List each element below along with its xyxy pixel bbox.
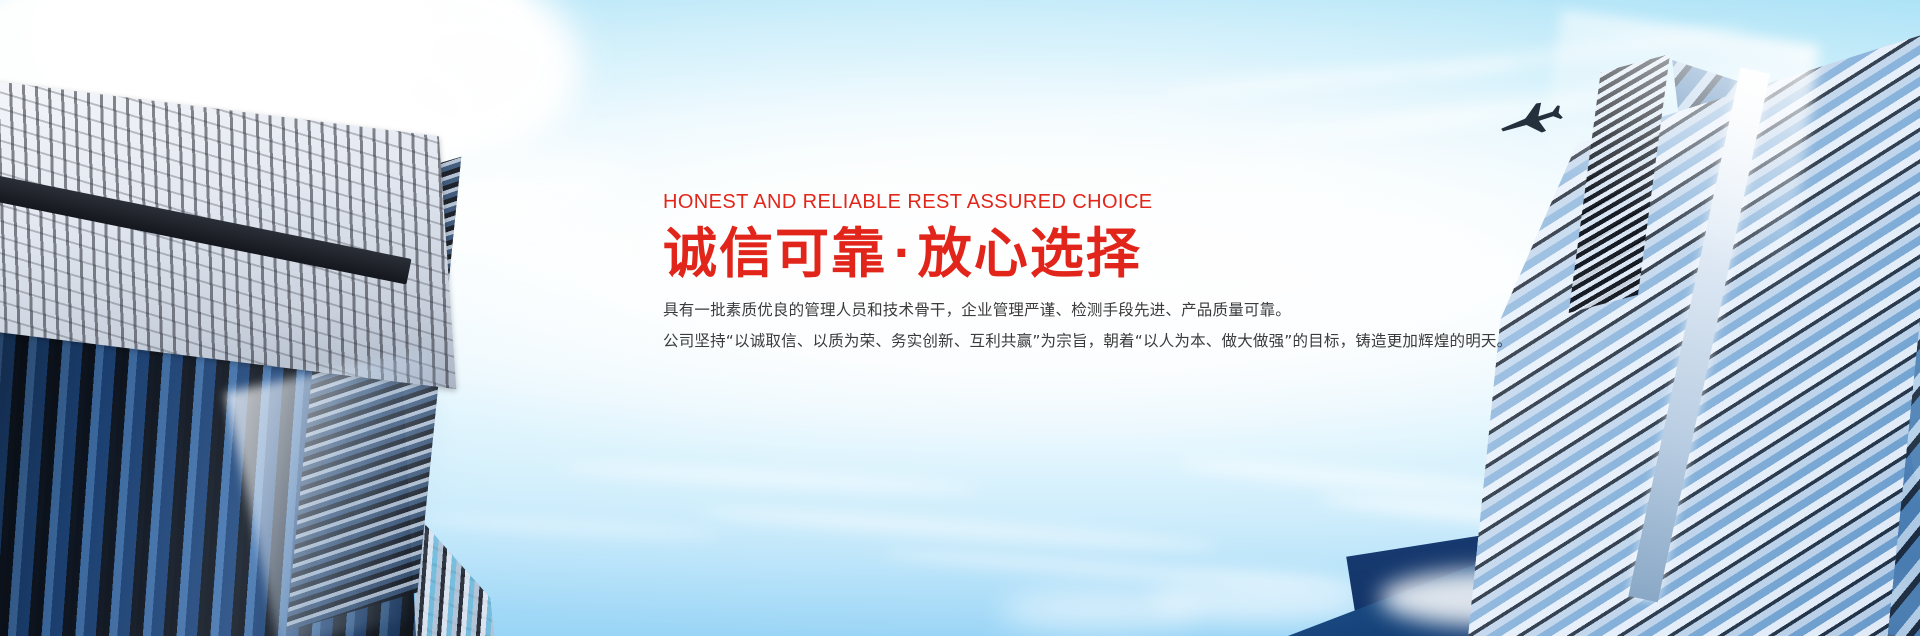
headline-part-right: 放心选择	[918, 222, 1142, 285]
banner-headline: 诚信可靠·放心选择	[663, 224, 1483, 284]
description-line-2: 公司坚持“以诚取信、以质为荣、务实创新、互利共赢”为宗旨，朝着“以人为本、做大做…	[663, 326, 1483, 356]
description-line-1: 具有一批素质优良的管理人员和技术骨干，企业管理严谨、检测手段先进、产品质量可靠。	[663, 295, 1483, 325]
banner-eyebrow: HONEST AND RELIABLE REST ASSURED CHOICE	[663, 190, 1483, 215]
banner-description: 具有一批素质优良的管理人员和技术骨干，企业管理严谨、检测手段先进、产品质量可靠。…	[663, 295, 1483, 355]
banner-copy: HONEST AND RELIABLE REST ASSURED CHOICE …	[663, 190, 1483, 356]
headline-part-left: 诚信可靠	[663, 222, 887, 285]
headline-separator: ·	[887, 228, 918, 279]
building-left	[0, 78, 520, 636]
hero-banner: HONEST AND RELIABLE REST ASSURED CHOICE …	[0, 0, 1920, 636]
